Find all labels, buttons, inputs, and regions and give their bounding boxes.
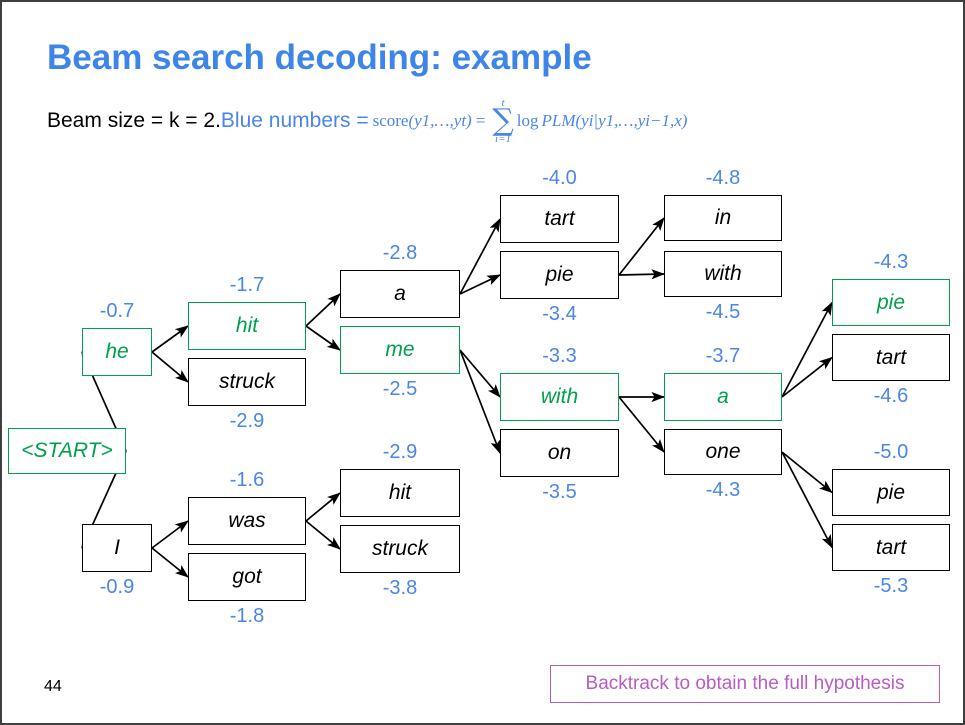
edge-a1-to-tart1 — [460, 219, 500, 294]
node-hit2: hit — [340, 469, 460, 517]
node-label: struck — [372, 537, 428, 561]
formula-score-args: (y1,…,yt) — [408, 111, 471, 131]
node-label: one — [705, 440, 740, 464]
score-got: -1.8 — [188, 605, 306, 628]
node-label: <START> — [21, 439, 112, 463]
edge-hit1-to-me — [306, 326, 340, 350]
node-label: tart — [876, 536, 906, 560]
node-label: me — [385, 338, 414, 362]
node-label: a — [717, 385, 729, 409]
node-pie2: pie — [832, 279, 950, 326]
node-start: <START> — [8, 428, 126, 474]
node-he: he — [82, 328, 152, 376]
score-struck2: -3.8 — [340, 577, 460, 600]
node-struck1: struck — [188, 358, 306, 406]
node-a2: a — [664, 373, 782, 421]
node-label: in — [715, 206, 731, 230]
node-was: was — [188, 497, 306, 545]
edge-hit1-to-a1 — [306, 294, 340, 326]
node-pie1: pie — [500, 251, 619, 299]
beam-size-text: Beam size = k = 2. — [47, 109, 221, 133]
node-with1: with — [500, 373, 619, 421]
node-label: on — [548, 441, 571, 465]
edge-me-to-on — [460, 350, 500, 453]
score-pie3: -5.0 — [832, 441, 950, 464]
formula-equals: = — [476, 111, 486, 131]
edge-a1-to-pie1 — [460, 275, 500, 294]
edge-was-to-struck2 — [306, 521, 340, 549]
node-label: pie — [877, 481, 905, 505]
node-one: one — [664, 429, 782, 475]
edge-i-to-was — [152, 521, 188, 548]
sigma-lower-limit: i=1 — [495, 134, 511, 145]
node-tart1: tart — [500, 195, 619, 243]
node-label: tart — [544, 207, 574, 231]
node-on: on — [500, 429, 619, 477]
edge-i-to-got — [152, 548, 188, 577]
node-in: in — [664, 195, 782, 241]
formula-score-fn: score — [373, 111, 409, 131]
slide-number: 44 — [44, 678, 62, 696]
node-label: hit — [389, 481, 411, 505]
node-label: I — [114, 536, 120, 560]
score-formula: score(y1,…,yt) = t ∑ i=1 log PLM(yi|y1,…… — [373, 98, 688, 145]
node-label: hit — [236, 314, 258, 338]
node-label: tart — [876, 346, 906, 370]
subtitle-line: Beam size = k = 2. Blue numbers = score(… — [47, 98, 687, 145]
formula-plm-args: (yi|y1,…,yi−1,x) — [575, 111, 687, 131]
node-label: with — [704, 262, 741, 286]
edge-one-to-tart3 — [782, 452, 832, 548]
edge-pie1-to-with2 — [619, 274, 664, 275]
page-title: Beam search decoding: example — [47, 38, 592, 78]
edge-one-to-pie3 — [782, 452, 832, 493]
node-label: was — [228, 509, 265, 533]
node-label: struck — [219, 370, 275, 394]
backtrack-note[interactable]: Backtrack to obtain the full hypothesis — [550, 665, 940, 703]
node-pie3: pie — [832, 469, 950, 516]
score-tart2: -4.6 — [832, 385, 950, 408]
edge-me-to-with1 — [460, 350, 500, 397]
slide-canvas: Beam search decoding: example Beam size … — [0, 0, 965, 725]
score-he: -0.7 — [82, 300, 152, 323]
score-on: -3.5 — [500, 481, 619, 504]
edge-a2-to-pie2 — [782, 303, 832, 398]
node-hit1: hit — [188, 302, 306, 350]
edge-was-to-hit2 — [306, 493, 340, 521]
summation-symbol: t ∑ i=1 — [492, 98, 513, 145]
node-label: got — [232, 565, 261, 589]
score-was: -1.6 — [188, 469, 306, 492]
edge-a2-to-tart2 — [782, 358, 832, 398]
node-label: pie — [545, 263, 573, 287]
node-label: a — [394, 282, 406, 306]
node-tart3: tart — [832, 524, 950, 571]
score-tart3: -5.3 — [832, 575, 950, 598]
score-pie1: -3.4 — [500, 303, 619, 326]
node-tart2: tart — [832, 334, 950, 381]
score-me: -2.5 — [340, 378, 460, 401]
node-struck2: struck — [340, 525, 460, 573]
sigma-glyph: ∑ — [492, 109, 513, 134]
score-one: -4.3 — [664, 479, 782, 502]
score-struck1: -2.9 — [188, 410, 306, 433]
node-a1: a — [340, 270, 460, 318]
edge-pie1-to-in — [619, 218, 664, 275]
blue-numbers-label: Blue numbers = — [221, 109, 369, 133]
score-tart1: -4.0 — [500, 167, 619, 190]
score-a2: -3.7 — [664, 345, 782, 368]
score-in: -4.8 — [664, 167, 782, 190]
score-pie2: -4.3 — [832, 251, 950, 274]
formula-log: log — [517, 111, 539, 131]
node-with2: with — [664, 251, 782, 297]
node-label: with — [541, 385, 578, 409]
node-got: got — [188, 553, 306, 601]
score-hit2: -2.9 — [340, 441, 460, 464]
score-with1: -3.3 — [500, 345, 619, 368]
score-hit1: -1.7 — [188, 274, 306, 297]
node-label: he — [105, 340, 128, 364]
formula-plm: PLM — [541, 111, 575, 131]
edge-with1-to-one — [619, 397, 664, 452]
node-me: me — [340, 326, 460, 374]
edge-he-to-struck1 — [152, 352, 188, 382]
score-i: -0.9 — [82, 576, 152, 599]
score-a1: -2.8 — [340, 242, 460, 265]
edge-he-to-hit1 — [152, 326, 188, 352]
node-i: I — [82, 524, 152, 572]
score-with2: -4.5 — [664, 301, 782, 324]
node-label: pie — [877, 291, 905, 315]
